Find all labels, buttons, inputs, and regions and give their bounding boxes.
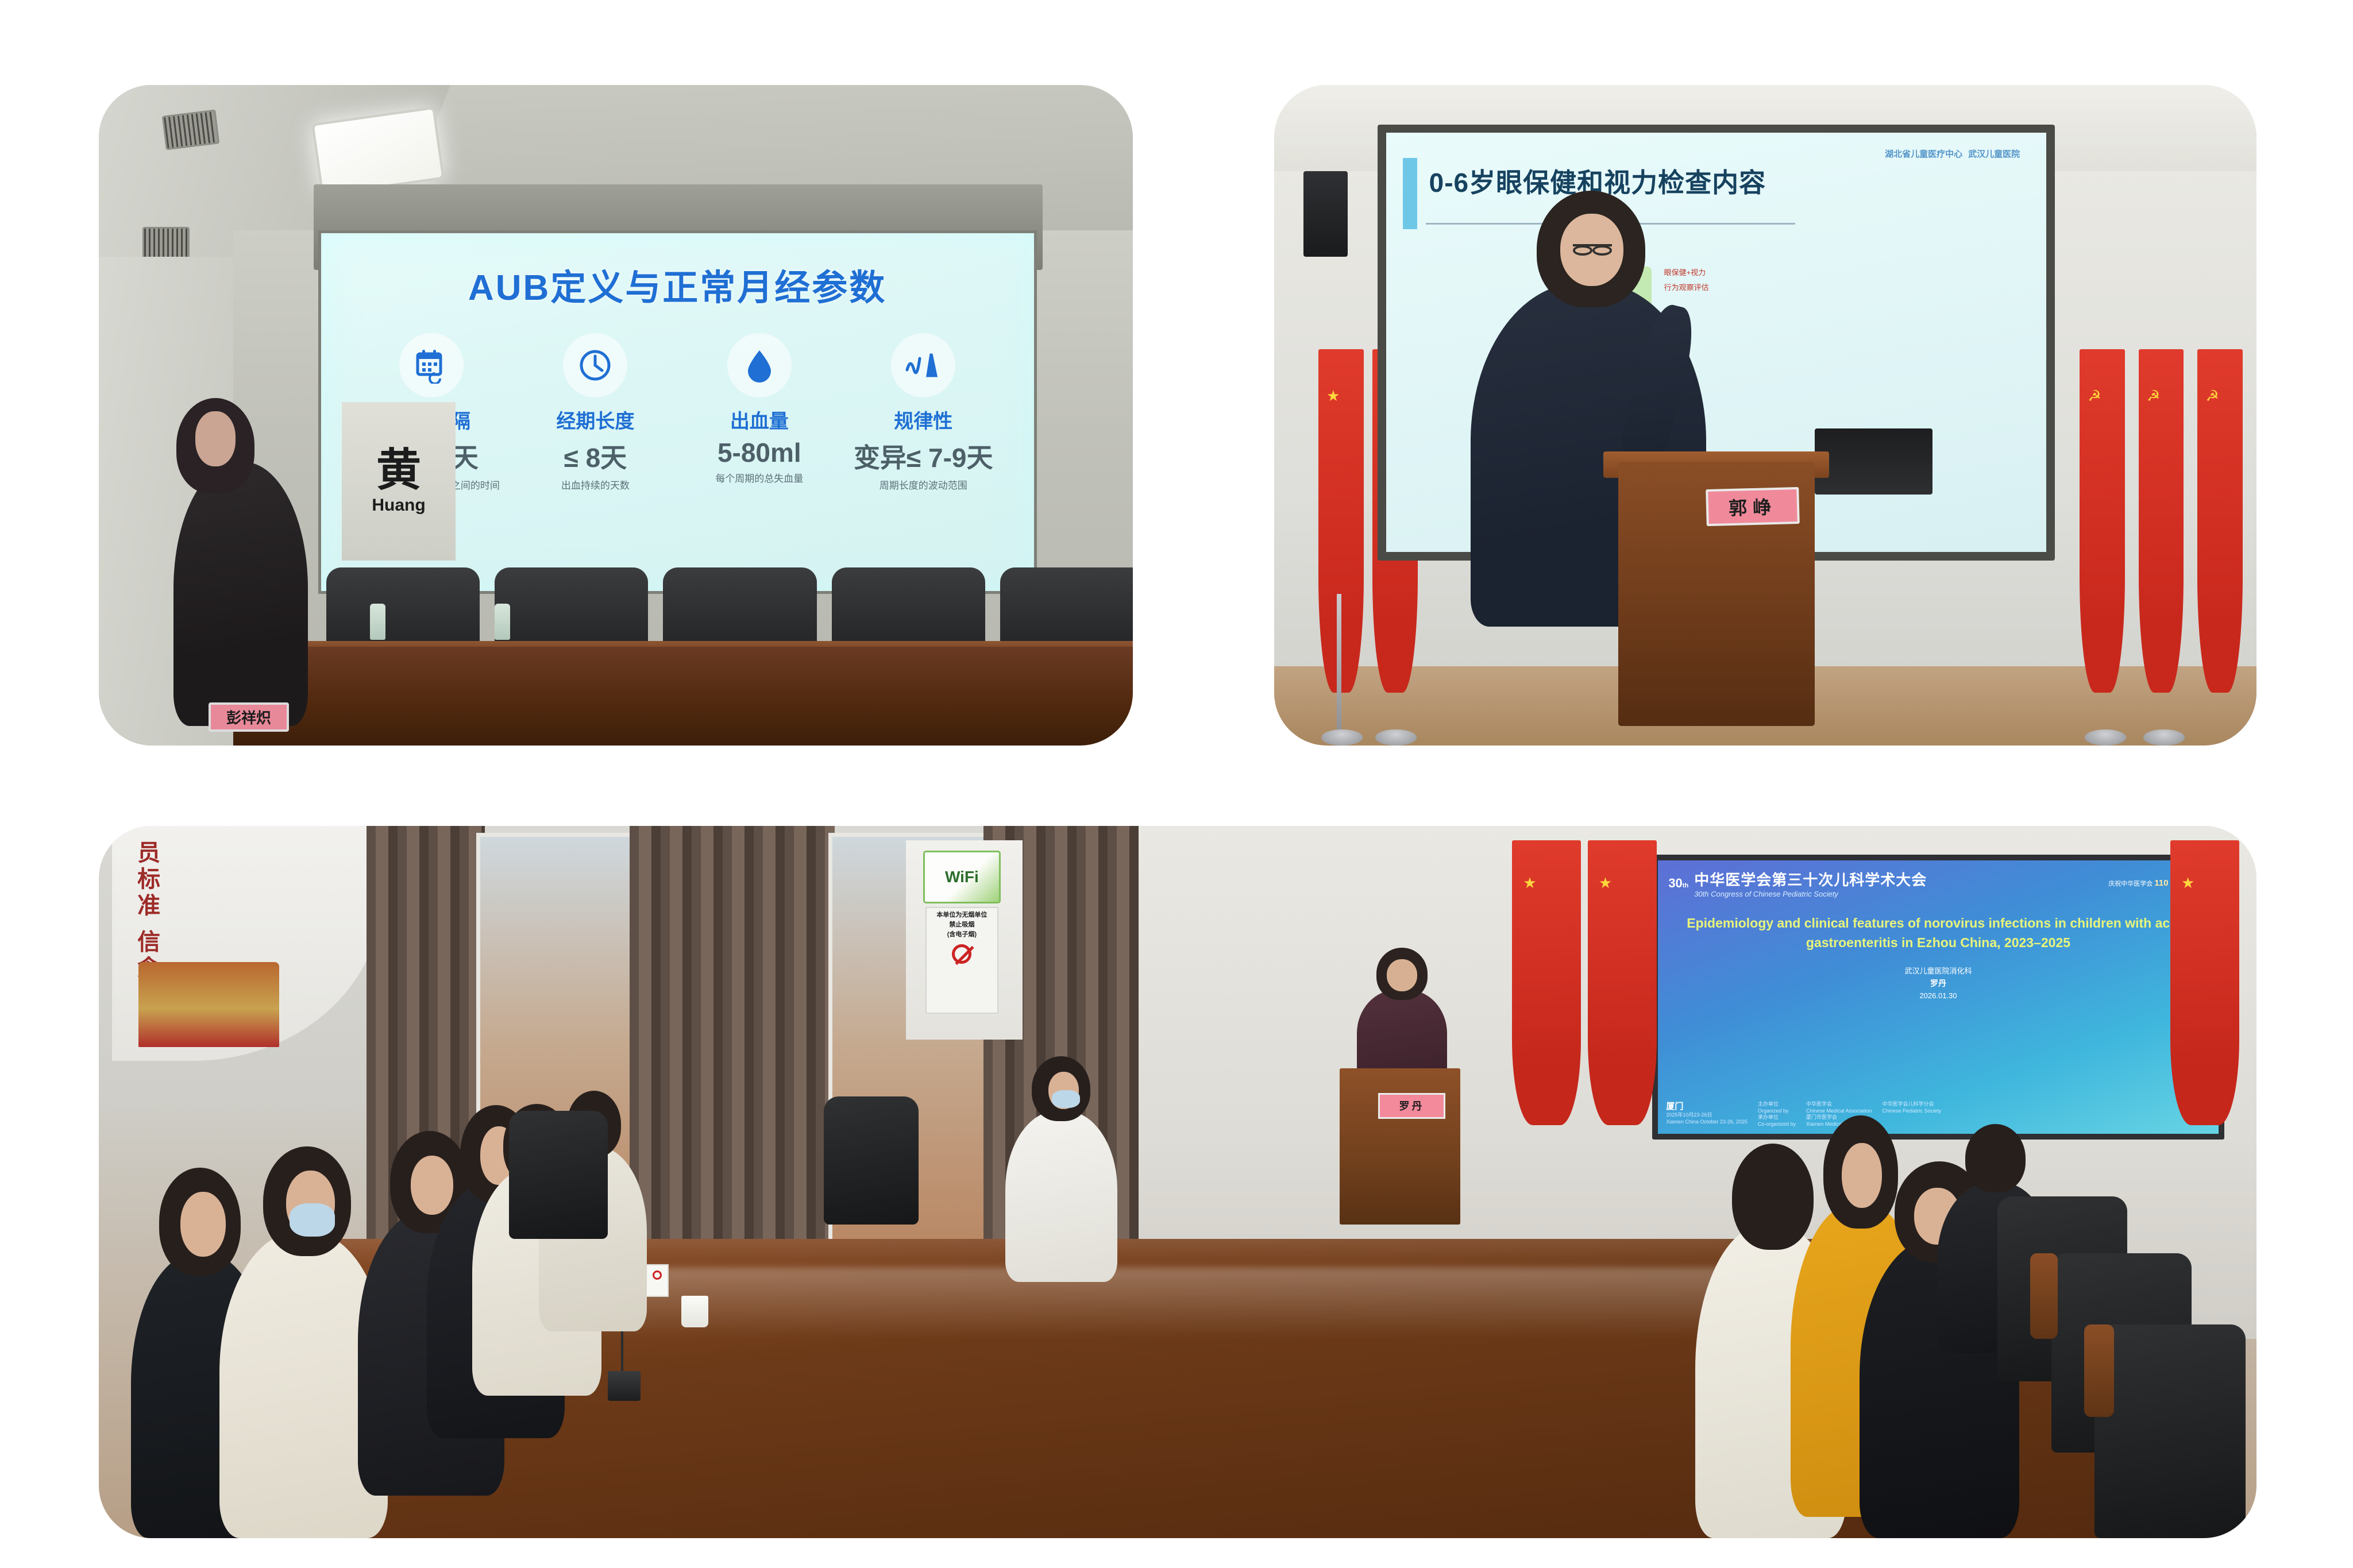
audience-head [1732,1144,1814,1250]
chair-armrest [2084,1324,2115,1417]
leather-chair [824,1096,919,1225]
organized-by-en: Chinese Medical Association [1806,1108,1872,1115]
no-smoking-icon [952,944,971,964]
organized-by-label-cn: 主办单位 [1758,1101,1796,1108]
organized-by-label-en: Organized by [1758,1108,1796,1115]
chair-armrest [2030,1253,2058,1339]
wall-sign-en: Huang [372,496,425,515]
slide-accent-bar [1403,158,1417,229]
slide-one-col-label: 规律性 [894,405,952,434]
organized-by-cn: 中华医学会 [1806,1101,1872,1108]
slide-one-col-value: ≤ 8天 [564,437,627,475]
clock-icon [563,333,627,397]
flag-emblem-icon: ☭ [2147,387,2160,405]
flag-star-icon: ★ [1523,874,1536,892]
chinese-national-flag: ★ [1588,840,1657,1125]
hospital-logo: 湖北省儿童医疗中心 武汉儿童医院 [1885,149,2020,160]
no-smoking-icon [653,1270,662,1280]
speaker-person [173,462,308,726]
tiananmen-gate-icon [138,962,279,1046]
party-flag: ☭ [2139,349,2184,693]
anniversary-badge-cn: 庆祝中华医学会 [2108,880,2153,887]
flag-base [1375,729,1417,746]
no-smoking-note: (含电子烟) [947,931,977,939]
co-organized-label-en: Co-organized by [1758,1121,1796,1128]
speaker-face [195,411,236,466]
footer-dates-cn: 2025年10月23-26日 [1666,1112,1748,1119]
co-organized-label-cn: 承办单位 [1758,1114,1796,1121]
no-smoking-sign: 本单位为无烟单位 禁止吸烟 (含电子烟) [925,907,999,1014]
flag-base [2143,729,2185,746]
leather-chair [2094,1324,2246,1538]
wifi-sign: WiFi [923,851,1001,903]
presentation-byline: 武汉儿童医院消化科 罗丹 2026.01.30 [1668,965,2208,1002]
slide-one-column: 经期长度 ≤ 8天 出血持续的天数 [514,333,677,584]
speaker-raised-arm [1617,300,1701,465]
affiliation: 武汉儿童医院消化科 [1668,965,2208,978]
slide-one-col-note: 每个周期的总失血量 [689,473,830,485]
flag-pole [1337,594,1341,739]
projection-screen-three: 30th 中华医学会第三十次儿科学术大会 30th Congress of Ch… [1652,855,2224,1140]
laptop [1815,428,1932,495]
slide-one-col-note: 周期长度的波动范围 [853,480,994,492]
speaker-head [1537,191,1645,307]
congress-title-en: 30th Congress of Chinese Pediatric Socie… [1694,890,1927,898]
society-cn: 中华医学会儿科学分会 [1883,1101,1942,1108]
blood-drop-icon [727,333,792,397]
desk-name-plate: 彭祥炽 [209,702,289,732]
chinese-national-flag: ★ [2170,840,2239,1125]
flag-star-icon: ★ [1599,874,1612,892]
waveform-metronome-icon [891,333,955,397]
slide-one-col-value: 5-80ml [718,437,801,468]
presenter-head [1376,948,1427,999]
calendar-refresh-icon [399,333,464,397]
presentation-date: 2026.01.30 [1668,990,2208,1002]
podium-name-plate: 郭峥 [1706,486,1800,526]
photo-card-one[interactable]: AUB定义与正常月经参数 周期间隔 24-38天 [99,85,1133,746]
slide-one-title: AUB定义与正常月经参数 [321,258,1034,310]
congress-number: 30th [1668,877,1688,890]
footer-dates-en: Xiamen China October 23-26, 2025 [1666,1119,1748,1126]
no-smoking-line-two: 禁止吸烟 [949,921,974,929]
audience-head [1032,1056,1090,1121]
footer-society: 中华医学会儿科学分会 Chinese Pediatric Society [1883,1101,1942,1128]
desk-microphone [608,1371,640,1401]
audience-face [180,1192,226,1257]
flag-emblem-icon: ☭ [2206,387,2219,405]
slide-three-header: 30th 中华医学会第三十次儿科学术大会 30th Congress of Ch… [1668,868,2208,898]
logo-line-one: 湖北省儿童医疗中心 [1885,149,1962,160]
party-flag: ☭ [2197,349,2243,693]
audience-head [159,1168,241,1276]
face-mask [290,1203,335,1237]
paper-cup [681,1296,708,1327]
leather-chair [509,1111,608,1239]
podium-name-plate: 罗丹 [1378,1093,1445,1119]
right-note: 眼保健+视力 [1664,267,1709,277]
speaker-head [176,398,254,493]
norovirus-slide: 30th 中华医学会第三十次儿科学术大会 30th Congress of Ch… [1658,860,2218,1134]
ceiling-vent-icon [162,110,219,150]
slide-one-col-value: 变异≤ 7-9天 [854,437,993,475]
wall-name-sign: 黄 Huang [342,402,456,561]
footer-city: 厦门 [1666,1102,1683,1111]
audience-head [1965,1124,2026,1192]
flag-emblem-icon: ☭ [2088,387,2101,405]
no-smoking-line-one: 本单位为无烟单位 [936,912,987,920]
slide-one-col-note: 出血持续的天数 [525,480,666,492]
wifi-icon: WiFi [945,868,979,886]
slide-one-col-label: 经期长度 [556,405,634,434]
slide-one-column: 出血量 5-80ml 每个周期的总失血量 [677,333,841,584]
audience-person [1005,1111,1117,1282]
footer-city-block: 厦门 2025年10月23-26日 Xiamen China October 2… [1666,1101,1748,1128]
party-flag: ☭ [2080,349,2125,693]
conference-table [233,647,1133,746]
flag-base [1321,729,1363,746]
face-mask [1052,1090,1080,1109]
congress-number-suffix: th [1683,882,1688,889]
congress-title-block: 中华医学会第三十次儿科学术大会 30th Congress of Chinese… [1694,868,1927,898]
water-bottle [495,604,510,640]
glasses-icon [1573,244,1612,252]
wall-sign-cn: 黄 [376,447,421,492]
presentation-title: Epidemiology and clinical features of no… [1668,913,2208,953]
footer-organizer-labels: 主办单位 Organized by 承办单位 Co-organized by [1758,1101,1796,1128]
audience-face [411,1156,453,1215]
flag-star-icon: ★ [1326,387,1340,405]
flag-base [2085,729,2126,746]
water-bottle [370,604,385,640]
loudspeaker [1303,171,1348,257]
presenter-name: 罗丹 [1668,977,2208,990]
photo-card-three[interactable]: 员标准 信念 WiFi 本单位为无烟单位 禁止吸烟 (含电子烟) 30th [99,826,2256,1538]
society-en: Chinese Pediatric Society [1883,1108,1942,1115]
wooden-podium [1340,1068,1460,1225]
photo-collage: AUB定义与正常月经参数 周期间隔 24-38天 [0,0,2353,1568]
slide-footer: 厦门 2025年10月23-26日 Xiamen China October 2… [1666,1101,2210,1128]
slide-one-column: 规律性 变异≤ 7-9天 周期长度的波动范围 [842,333,1005,584]
audience-head [1823,1115,1898,1228]
anniversary-number: 110 [2154,878,2168,888]
photo-card-two[interactable]: ★ ★ 0-6岁眼保健和视力检查内容 湖北省儿童医疗中心 武汉儿童医院 眼外观 … [1274,85,2256,746]
presenter-name-value: 罗丹 [1930,979,1946,988]
chinese-national-flag: ★ [1512,840,1581,1125]
logo-line-two: 武汉儿童医院 [1968,149,2020,160]
congress-title-cn: 中华医学会第三十次儿科学术大会 [1694,868,1927,890]
audience-face [1842,1143,1882,1208]
audience-head [263,1146,350,1257]
presenter-face [1387,959,1417,991]
congress-number-value: 30 [1668,876,1682,890]
right-note: 行为观察评估 [1664,281,1709,292]
slide-one-col-label: 出血量 [730,405,789,434]
speaker-face [1560,214,1623,286]
flag-star-icon: ★ [2181,874,2194,892]
